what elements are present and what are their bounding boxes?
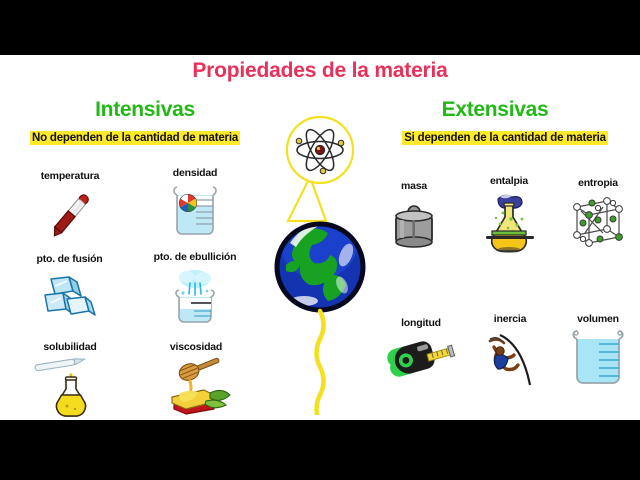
molecular-lattice-icon xyxy=(558,193,638,249)
column-heading-intensivas: Intensivas xyxy=(20,98,270,122)
property-punto-ebullicion: pto. de ebullición xyxy=(133,251,257,329)
property-label-temperatura: temperatura xyxy=(15,170,125,182)
graduated-beaker-icon xyxy=(558,329,638,391)
letterbox-top xyxy=(0,0,640,55)
page-title: Propiedades de la materia xyxy=(0,59,640,83)
property-viscosidad: viscosidad xyxy=(138,341,254,417)
property-punto-fusion: pto. de fusión xyxy=(12,253,127,327)
boiling-beaker-icon xyxy=(133,267,257,329)
earth-globe-icon xyxy=(275,222,365,312)
column-subtitle-extensivas: Si dependen de la cantidad de materia xyxy=(370,132,640,144)
honey-dipper-icon xyxy=(138,357,254,417)
letterbox-bottom xyxy=(0,420,640,480)
thermometer-icon xyxy=(15,186,125,244)
property-longitud: longitud xyxy=(378,317,464,387)
property-densidad: densidad xyxy=(140,167,250,245)
center-graphic xyxy=(268,115,372,415)
column-subtitle-extensivas-text: Si dependen de la cantidad de materia xyxy=(402,131,608,145)
property-volumen: volumen xyxy=(558,313,638,391)
property-label-punto-ebullicion: pto. de ebullición xyxy=(133,251,257,263)
property-entalpia: entalpia xyxy=(468,175,550,253)
column-heading-extensivas: Extensivas xyxy=(370,98,620,122)
property-temperatura: temperatura xyxy=(15,170,125,244)
property-solubilidad: solubilidad xyxy=(14,341,126,417)
property-entropia: entropia xyxy=(558,177,638,249)
property-label-solubilidad: solubilidad xyxy=(14,341,126,353)
yellow-squiggle-line xyxy=(317,311,324,415)
beaker-with-ball-icon xyxy=(140,183,250,245)
atom-in-lens-icon xyxy=(287,117,353,221)
property-masa: masa xyxy=(375,180,453,248)
property-label-entropia: entropia xyxy=(558,177,638,189)
tape-measure-icon xyxy=(378,333,464,387)
property-inercia: inercia xyxy=(470,313,550,389)
property-label-punto-fusion: pto. de fusión xyxy=(12,253,127,265)
column-subtitle-intensivas: No dependen de la cantidad de materia xyxy=(0,132,270,144)
property-label-viscosidad: viscosidad xyxy=(138,341,254,353)
weight-icon xyxy=(375,196,453,248)
property-label-volumen: volumen xyxy=(558,313,638,325)
ice-cubes-icon xyxy=(12,269,127,327)
property-label-longitud: longitud xyxy=(378,317,464,329)
column-subtitle-intensivas-text: No dependen de la cantidad de materia xyxy=(30,131,240,145)
property-label-densidad: densidad xyxy=(140,167,250,179)
reacting-flask-icon xyxy=(468,191,550,253)
flask-with-pipette-icon xyxy=(14,357,126,417)
property-label-masa: masa xyxy=(375,180,453,192)
pole-vaulter-icon xyxy=(470,329,550,389)
property-label-inercia: inercia xyxy=(470,313,550,325)
slide-canvas: Propiedades de la materia Intensivas Ext… xyxy=(0,55,640,420)
slide-frame: Propiedades de la materia Intensivas Ext… xyxy=(0,0,640,480)
property-label-entalpia: entalpia xyxy=(468,175,550,187)
